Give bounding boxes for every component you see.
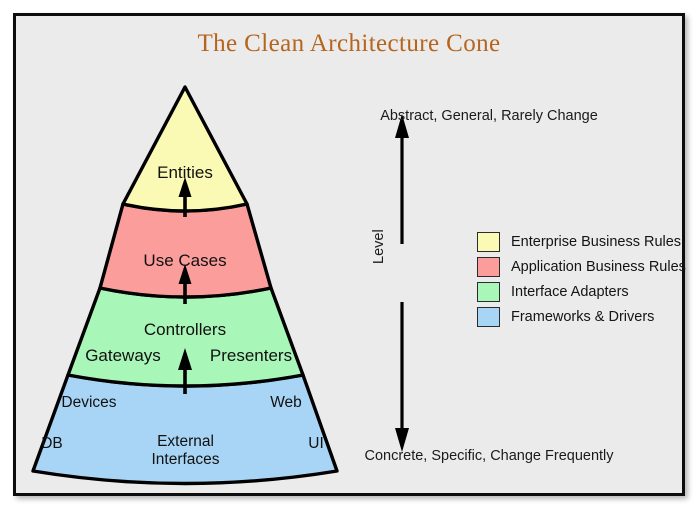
legend-swatch-enterprise-business-rules xyxy=(477,232,500,252)
axis-bottom-caption: Concrete, Specific, Change Frequently xyxy=(344,448,634,464)
legend-swatch-frameworks-and-drivers xyxy=(477,307,500,327)
legend: Enterprise Business Rules Application Bu… xyxy=(477,229,686,329)
legend-item-interface-adapters[interactable]: Interface Adapters xyxy=(477,279,686,304)
legend-item-application-business-rules[interactable]: Application Business Rules xyxy=(477,254,686,279)
legend-label-frameworks-and-drivers: Frameworks & Drivers xyxy=(511,309,654,325)
legend-label-application-business-rules: Application Business Rules xyxy=(511,259,686,275)
legend-label-interface-adapters: Interface Adapters xyxy=(511,284,629,300)
legend-swatch-interface-adapters xyxy=(477,282,500,302)
axis-level-label: Level xyxy=(371,229,387,264)
legend-swatch-application-business-rules xyxy=(477,257,500,277)
screenshot-canvas: The Clean Architecture Cone xyxy=(0,0,700,514)
diagram-frame: The Clean Architecture Cone xyxy=(13,13,685,496)
axis-top-caption: Abstract, General, Rarely Change xyxy=(344,108,634,124)
legend-item-enterprise-business-rules[interactable]: Enterprise Business Rules xyxy=(477,229,686,254)
legend-label-enterprise-business-rules: Enterprise Business Rules xyxy=(511,234,681,250)
legend-item-frameworks-and-drivers[interactable]: Frameworks & Drivers xyxy=(477,304,686,329)
